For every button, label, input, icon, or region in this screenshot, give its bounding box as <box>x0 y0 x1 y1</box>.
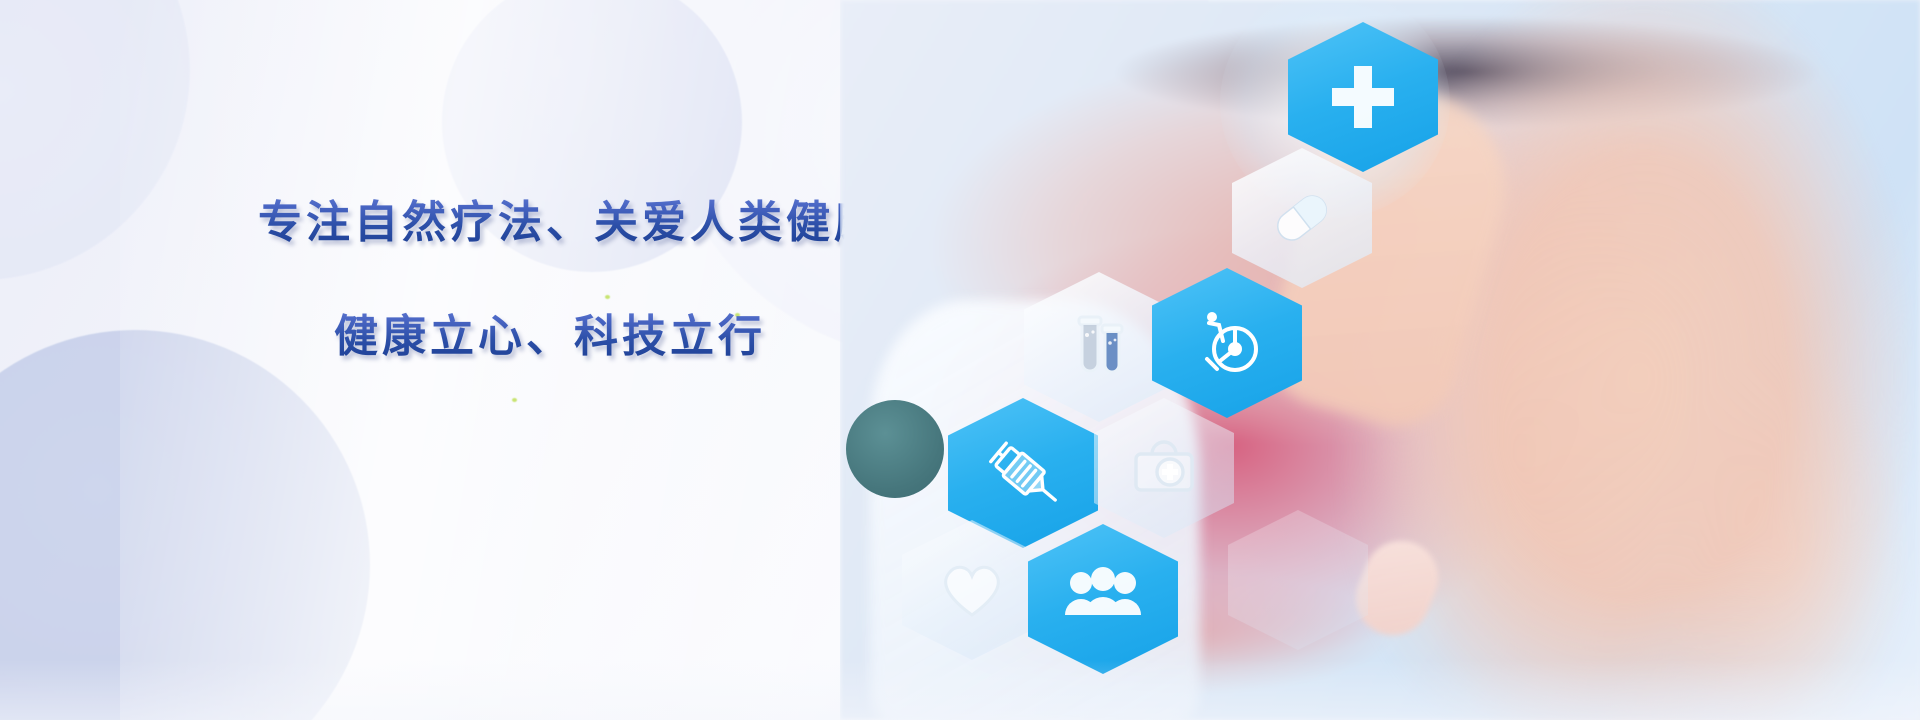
hex-test-tubes[interactable] <box>1024 272 1174 422</box>
hex-blank <box>1228 510 1368 650</box>
headline-block: 专注自然疗法、关爱人类健康 健康立心、科技立行 <box>0 0 880 720</box>
hex-capsule-pill[interactable] <box>1232 148 1372 288</box>
hex-medical-cross[interactable] <box>1288 22 1438 172</box>
headline-line-2: 健康立心、科技立行 <box>334 300 766 364</box>
doctor-photo-panel <box>840 0 1920 720</box>
hex-medical-bag[interactable] <box>1094 398 1234 538</box>
test-tubes-icon <box>1024 272 1174 422</box>
wheelchair-icon <box>1152 268 1302 418</box>
healthcare-hero-banner: 专注自然疗法、关爱人类健康 健康立心、科技立行 <box>0 0 1920 720</box>
capsule-pill-icon <box>1232 148 1372 288</box>
blank-hex-icon <box>1228 510 1368 650</box>
medical-bag-icon <box>1094 398 1234 538</box>
hex-wheelchair[interactable] <box>1152 268 1302 418</box>
people-group-icon <box>1028 524 1178 674</box>
hex-people-group[interactable] <box>1028 524 1178 674</box>
hexagon-icon-cluster <box>840 0 1920 720</box>
headline-line-1: 专注自然疗法、关爱人类健康 <box>258 186 882 250</box>
medical-cross-icon <box>1288 22 1438 172</box>
